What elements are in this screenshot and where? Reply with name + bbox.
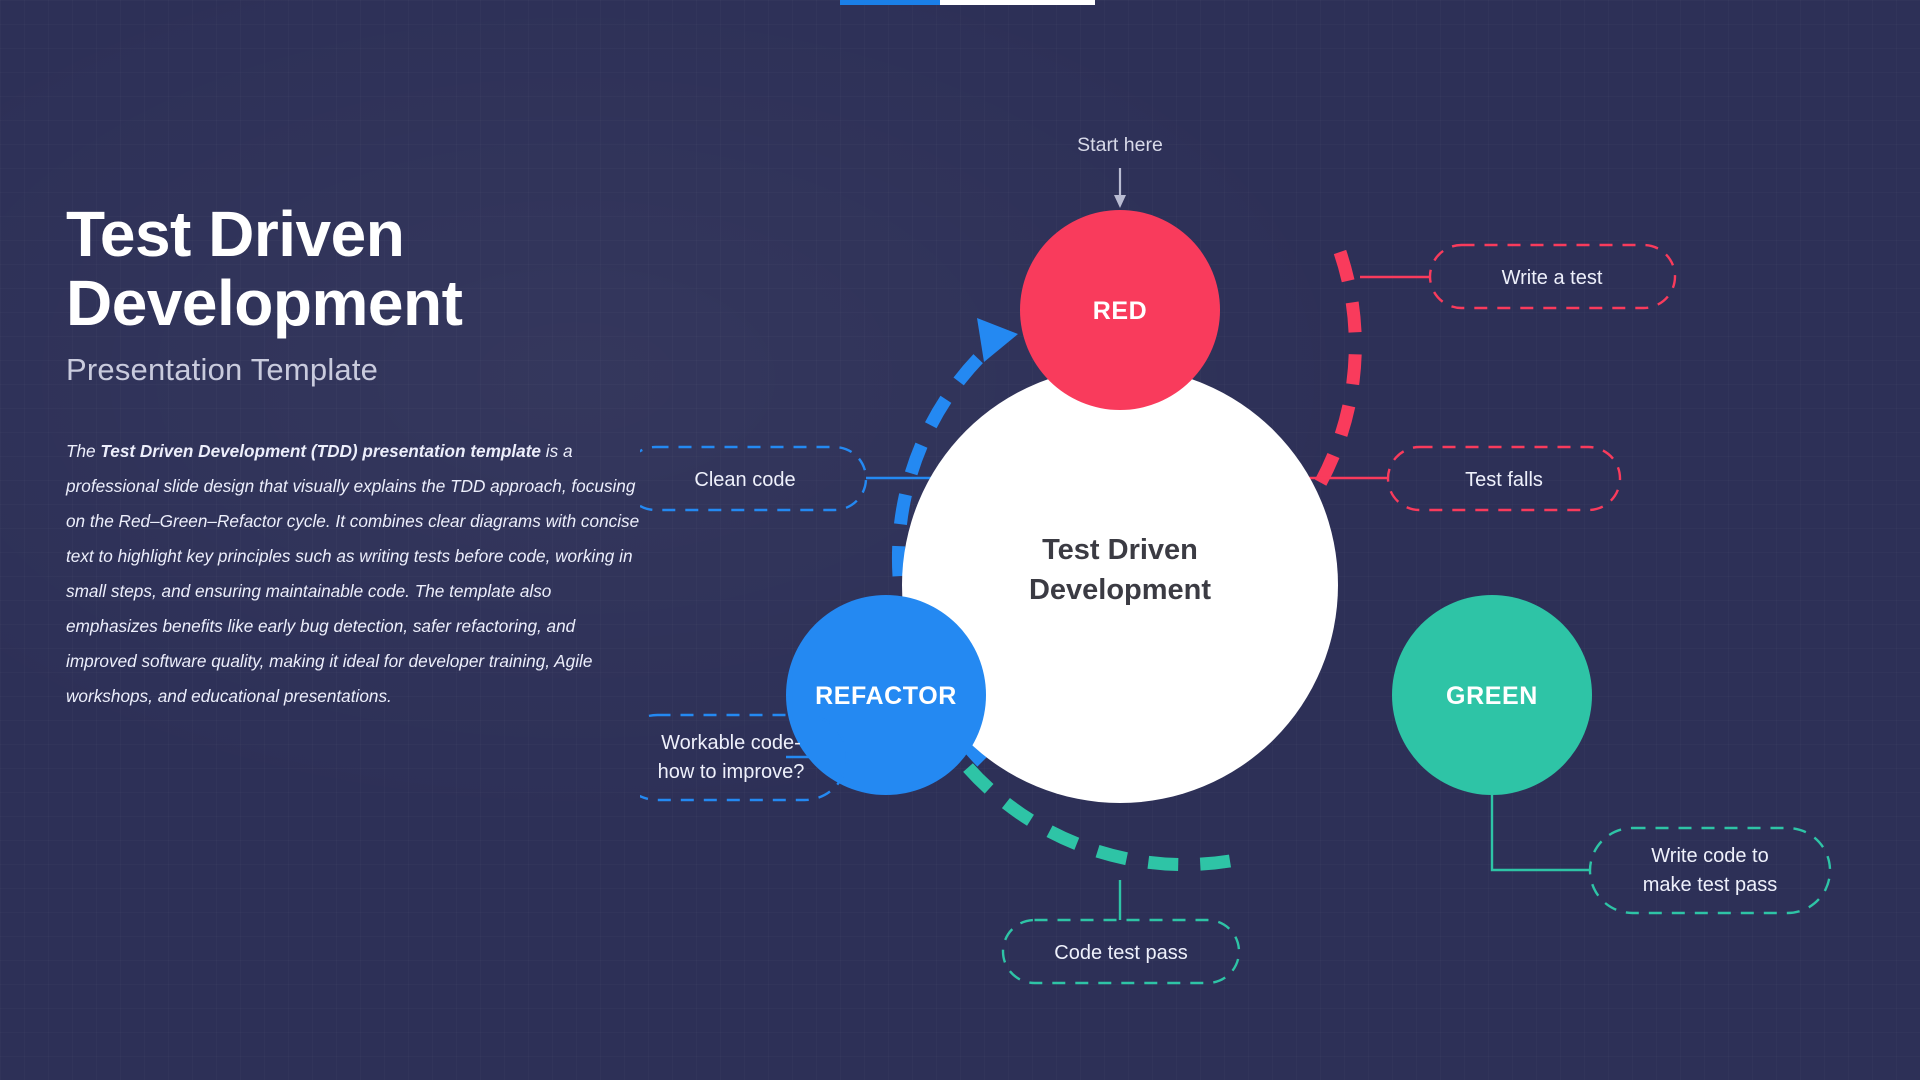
node-green[interactable]: GREEN [1392, 595, 1592, 795]
callout-clean-code-line1: Clean code [694, 469, 795, 491]
callout-write-code-line1: Write code to [1651, 845, 1768, 867]
callout-write-a-test[interactable]: Write a test [1430, 245, 1675, 308]
callout-write-code-to-make-test-pass[interactable]: Write code to make test pass [1590, 828, 1830, 913]
node-refactor-label: REFACTOR [815, 682, 957, 710]
node-green-label: GREEN [1446, 682, 1538, 710]
page-subtitle: Presentation Template [66, 352, 666, 388]
connector-green-write-code [1492, 795, 1590, 870]
left-text-panel: Test Driven Development Presentation Tem… [66, 200, 666, 714]
callout-write-code-line2: make test pass [1643, 874, 1778, 896]
node-red[interactable]: RED [1020, 210, 1220, 410]
page-title: Test Driven Development [66, 200, 666, 338]
start-here-annotation: Start here [1077, 134, 1163, 208]
body-bold-phrase: Test Driven Development (TDD) presentati… [100, 441, 541, 461]
center-label-line1: Test Driven [1042, 534, 1198, 566]
callout-test-falls-line1: Test falls [1465, 469, 1543, 491]
node-red-label: RED [1093, 297, 1148, 325]
body-description: The Test Driven Development (TDD) presen… [66, 434, 646, 713]
callout-write-a-test-line1: Write a test [1502, 267, 1603, 289]
body-rest: is a professional slide design that visu… [66, 441, 639, 705]
callout-code-test-pass-line1: Code test pass [1054, 942, 1187, 964]
body-lead: The [66, 441, 100, 461]
callout-code-test-pass[interactable]: Code test pass [1003, 920, 1239, 983]
callout-clean-code[interactable]: Clean code [640, 447, 866, 510]
start-here-label: Start here [1077, 134, 1163, 156]
callout-test-falls[interactable]: Test falls [1388, 447, 1620, 510]
callout-workable-code-line2: how to improve? [658, 761, 805, 783]
center-label-line2: Development [1029, 574, 1211, 606]
node-refactor[interactable]: REFACTOR [786, 595, 986, 795]
tdd-cycle-diagram: Test Driven Development RED GREEN REFACT… [640, 0, 1920, 1080]
callout-workable-code-line1: Workable code- [661, 732, 801, 754]
